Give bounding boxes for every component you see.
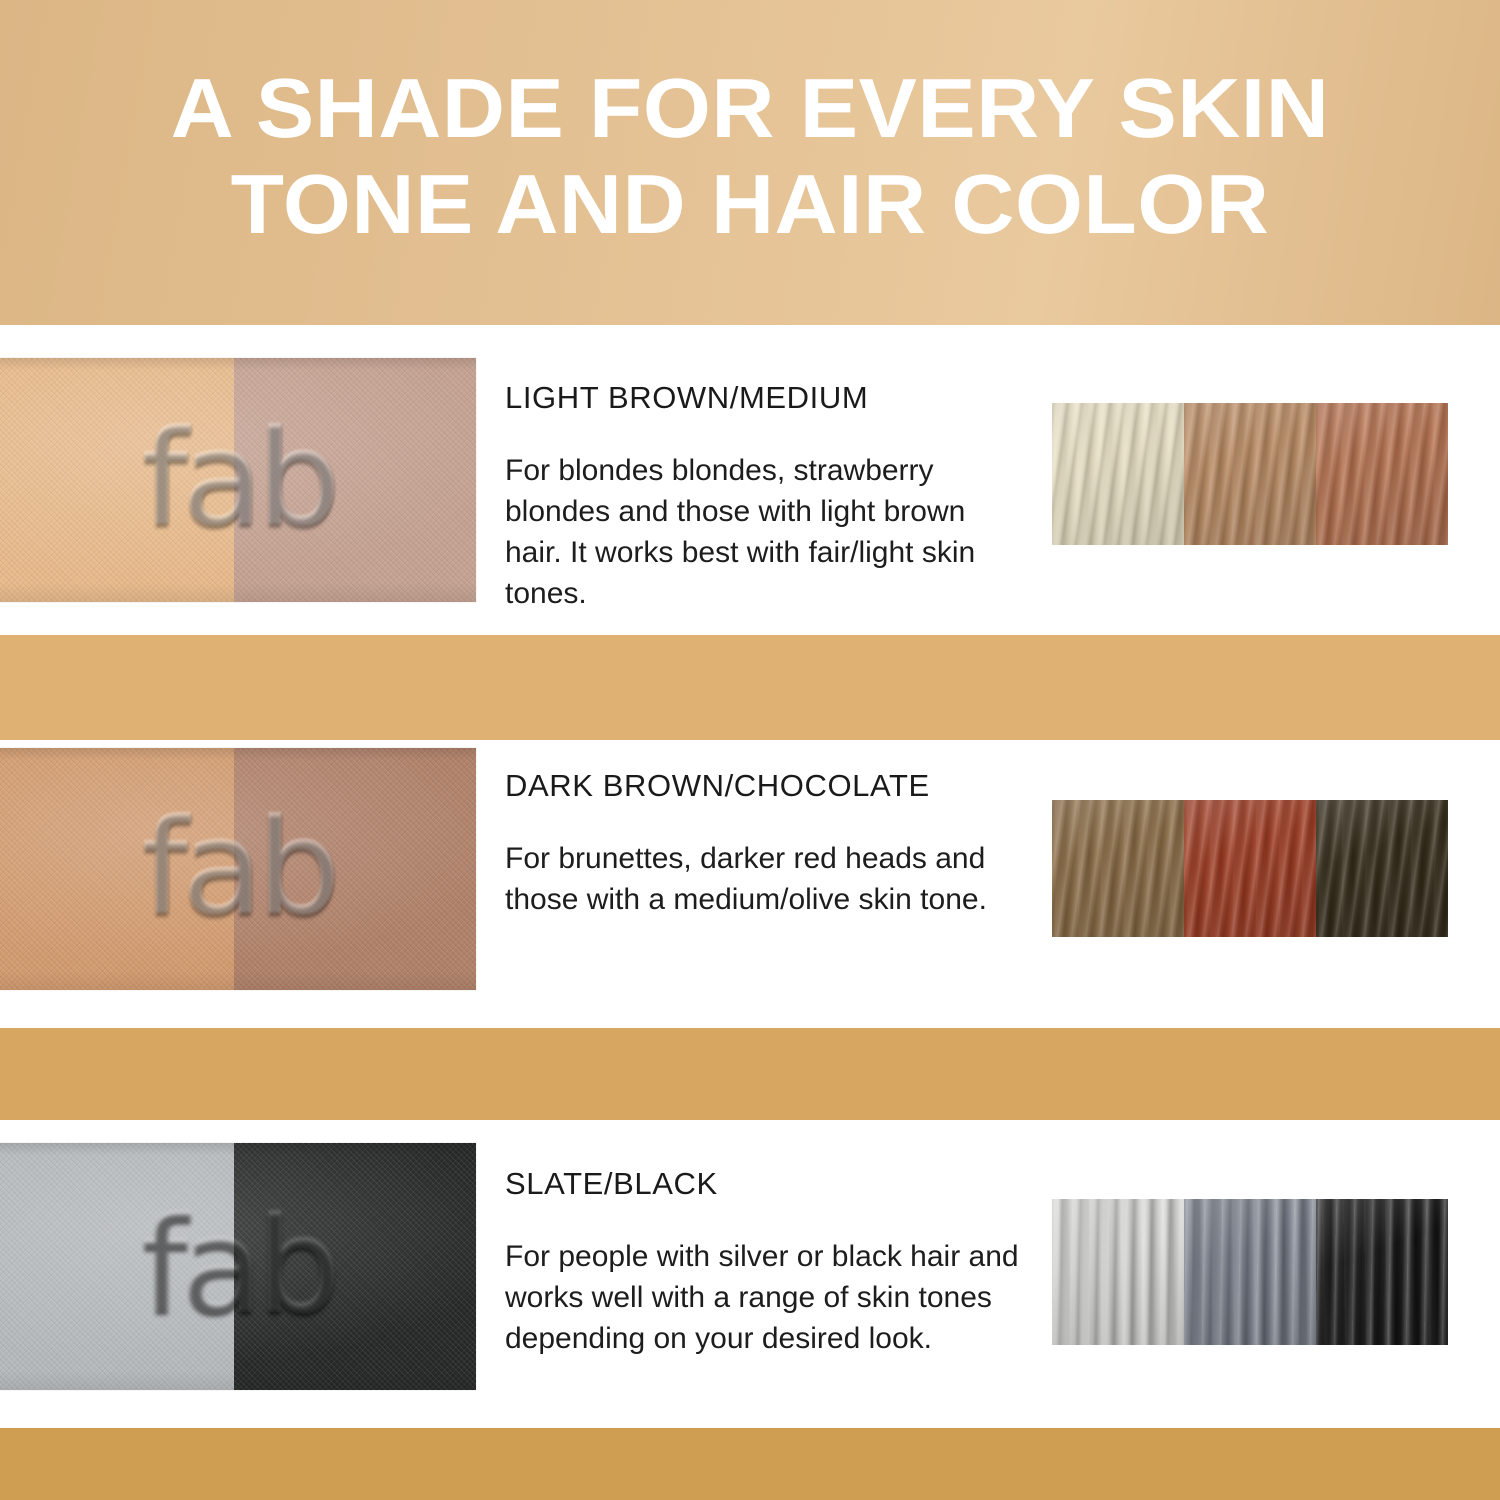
- hair-swatches-dark-brown-chocolate: [1052, 800, 1448, 937]
- hair-texture: [1184, 1199, 1316, 1345]
- hair-texture: [1052, 1199, 1184, 1345]
- palette-swatch-light-brown-medium: fab: [0, 358, 476, 602]
- hair-swatches-light-brown-medium: [1052, 403, 1448, 545]
- hair-swatches-slate-black: [1052, 1199, 1448, 1345]
- hair-texture: [1052, 800, 1184, 937]
- hair-swatch-dark-brown: [1316, 800, 1448, 937]
- hair-texture: [1184, 800, 1316, 937]
- shade-description-slate-black: SLATE/BLACK For people with silver or bl…: [505, 1166, 1025, 1359]
- page-title-line-1: A SHADE FOR EVERY SKIN: [0, 60, 1500, 156]
- hair-swatch-steel-grey: [1184, 1199, 1316, 1345]
- hair-swatch-strawberry-copper: [1316, 403, 1448, 545]
- bottom-band: [0, 1428, 1500, 1500]
- hair-swatch-auburn-red: [1184, 800, 1316, 937]
- hair-swatch-golden-light-brown: [1184, 403, 1316, 545]
- palette-half-right: [234, 748, 476, 990]
- hair-texture: [1052, 403, 1184, 545]
- shade-title: DARK BROWN/CHOCOLATE: [505, 768, 1025, 804]
- hair-texture: [1316, 403, 1448, 545]
- shade-body: For people with silver or black hair and…: [505, 1236, 1025, 1359]
- hair-swatch-medium-ash-brown: [1052, 800, 1184, 937]
- palette-swatch-slate-black: fab: [0, 1143, 476, 1390]
- palette-swatch-dark-brown-chocolate: fab: [0, 748, 476, 990]
- divider-band-2: [0, 1028, 1500, 1120]
- page-title-line-2: TONE AND HAIR COLOR: [0, 156, 1500, 252]
- shade-title: LIGHT BROWN/MEDIUM: [505, 380, 1025, 416]
- shade-description-light-brown-medium: LIGHT BROWN/MEDIUM For blondes blondes, …: [505, 380, 1025, 614]
- shade-title: SLATE/BLACK: [505, 1166, 1025, 1202]
- hair-texture: [1316, 800, 1448, 937]
- hair-swatch-black: [1316, 1199, 1448, 1345]
- page-title: A SHADE FOR EVERY SKIN TONE AND HAIR COL…: [0, 60, 1500, 252]
- header-banner: A SHADE FOR EVERY SKIN TONE AND HAIR COL…: [0, 0, 1500, 325]
- shade-row-light-brown-medium: fab LIGHT BROWN/MEDIUM For blondes blond…: [0, 358, 1500, 602]
- shade-body: For brunettes, darker red heads and thos…: [505, 838, 1025, 920]
- shade-row-slate-black: fab SLATE/BLACK For people with silver o…: [0, 1143, 1500, 1390]
- palette-half-left: [0, 358, 234, 602]
- shade-row-dark-brown-chocolate: fab DARK BROWN/CHOCOLATE For brunettes, …: [0, 748, 1500, 990]
- palette-half-left: [0, 748, 234, 990]
- shade-description-dark-brown-chocolate: DARK BROWN/CHOCOLATE For brunettes, dark…: [505, 768, 1025, 920]
- palette-half-right: [234, 1143, 476, 1390]
- hair-texture: [1184, 403, 1316, 545]
- palette-half-left: [0, 1143, 234, 1390]
- hair-swatch-platinum-blonde: [1052, 403, 1184, 545]
- hair-texture: [1316, 1199, 1448, 1345]
- shade-body: For blondes blondes, strawberry blondes …: [505, 450, 1025, 614]
- hair-swatch-silver-white: [1052, 1199, 1184, 1345]
- infographic-page: A SHADE FOR EVERY SKIN TONE AND HAIR COL…: [0, 0, 1500, 1500]
- palette-half-right: [234, 358, 476, 602]
- divider-band-1: [0, 635, 1500, 740]
